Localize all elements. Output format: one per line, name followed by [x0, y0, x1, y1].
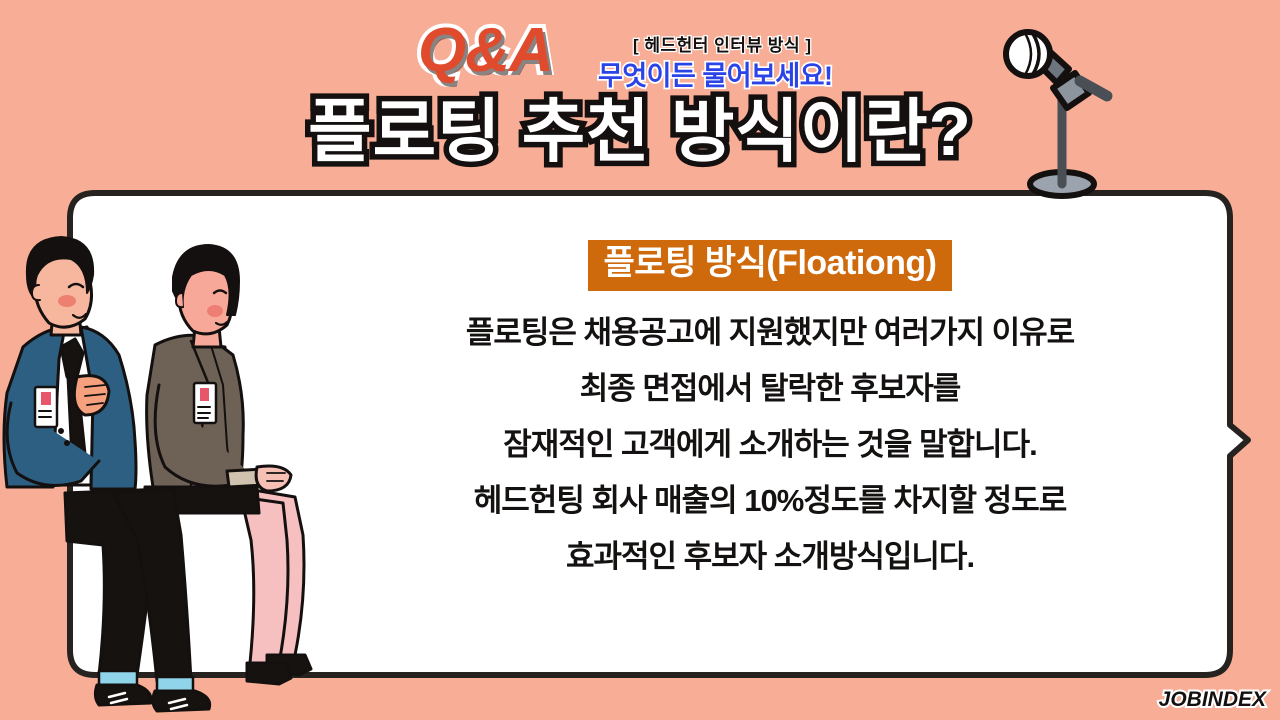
body-line-2: 최종 면접에서 탈락한 후보자를	[300, 373, 1240, 404]
man-button-2	[64, 440, 70, 446]
man-shoe-left	[95, 685, 151, 705]
brand-watermark: JOBINDEX	[1159, 688, 1266, 712]
poster-canvas: Q&A [ 헤드헌터 인터뷰 방식 ] 무엇이든 물어보세요! 플로팅 추천 방…	[0, 0, 1280, 720]
woman-hand	[256, 466, 291, 491]
highlight-label: 플로팅 방식(Floationg)	[588, 240, 953, 291]
woman-shoe-front	[247, 663, 291, 684]
header-bracket-tag: [ 헤드헌터 인터뷰 방식 ]	[633, 31, 811, 56]
body-line-1: 플로팅은 채용공고에 지원했지만 여러가지 이유로	[300, 317, 1240, 348]
seated-candidates-illustration	[0, 235, 335, 720]
body-line-4: 헤드헌팅 회사 매출의 10%정도를 차지할 정도로	[300, 485, 1240, 516]
microphone-icon	[985, 25, 1135, 210]
man-blush	[58, 295, 76, 307]
woman-badge-photo	[200, 388, 209, 401]
woman-blush	[207, 305, 223, 317]
man-button-1	[58, 428, 64, 434]
man-ear	[32, 285, 40, 300]
header-ask-prompt: 무엇이든 물어보세요!	[598, 54, 833, 93]
body-line-5: 효과적인 후보자 소개방식입니다.	[300, 541, 1240, 572]
man-badge-photo	[41, 392, 51, 405]
qa-logo: Q&A	[418, 20, 553, 82]
body-line-3: 잠재적인 고객에게 소개하는 것을 말합니다.	[300, 429, 1240, 460]
woman-leg-front	[241, 497, 288, 663]
highlight-row: 플로팅 방식(Floationg)	[300, 240, 1240, 291]
card-content: 플로팅 방식(Floationg) 플로팅은 채용공고에 지원했지만 여러가지 …	[300, 240, 1240, 572]
woman-ear	[176, 293, 183, 307]
